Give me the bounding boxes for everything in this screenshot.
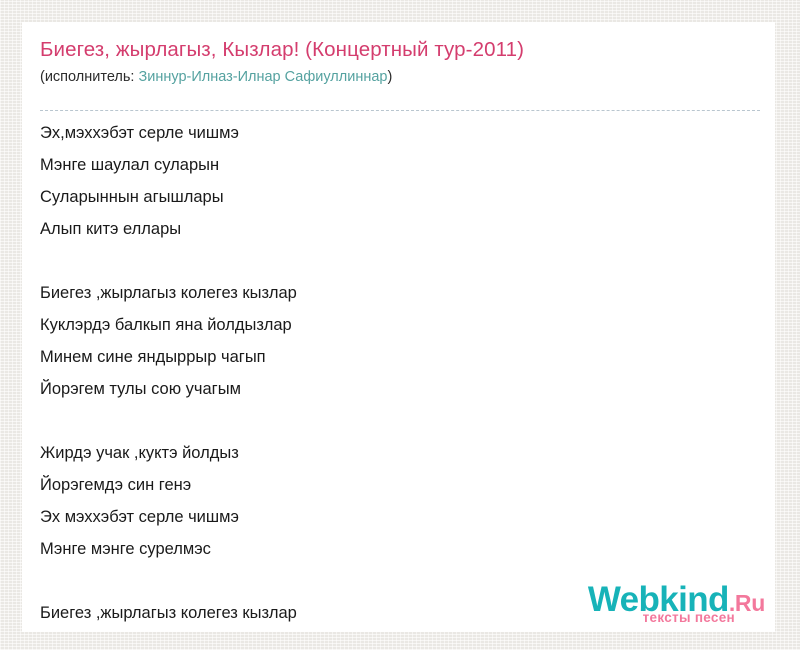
page-title: Биегез, жырлагыз, Кызлар! (Концертный ту… <box>40 37 758 63</box>
artist-suffix: ) <box>387 69 392 85</box>
lyrics-text: Эх,мэххэбэт серле чишмэМэнге шаулал сула… <box>40 117 740 632</box>
content-sheet: Биегез, жырлагыз, Кызлар! (Концертный ту… <box>22 22 775 632</box>
artist-label: (исполнитель: <box>40 69 138 85</box>
lyrics-line: Жирдэ учак ,куктэ йолдыз <box>40 437 740 469</box>
lyrics-stanza: Биегез ,жырлагыз колегез кызларКуклэрдэ … <box>40 277 740 405</box>
lyrics-line: Алып китэ еллары <box>40 213 740 245</box>
logo-tagline: тексты песен <box>588 611 735 625</box>
song-header: Биегез, жырлагыз, Кызлар! (Концертный ту… <box>40 37 758 87</box>
lyrics-line: Куклэрдэ балкып яна йолдызлар <box>40 309 740 341</box>
lyrics-line: Эх,мэххэбэт серле чишмэ <box>40 117 740 149</box>
lyrics-line: Куклэрдэ балкып яна йолдызлар <box>40 629 740 632</box>
artist-link[interactable]: Зиннур-Илназ-Илнар Сафиуллиннар <box>138 69 387 85</box>
site-logo-watermark: Webkind.Ru тексты песен <box>588 582 765 625</box>
lyrics-line: Суларыннын агышлары <box>40 181 740 213</box>
lyrics-line: Йорэгем тулы сою учагым <box>40 373 740 405</box>
lyrics-stanza: Эх,мэххэбэт серле чишмэМэнге шаулал сула… <box>40 117 740 245</box>
lyrics-line: Эх мэххэбэт серле чишмэ <box>40 501 740 533</box>
lyrics-stanza: Жирдэ учак ,куктэ йолдызЙорэгемдэ син ге… <box>40 437 740 565</box>
lyrics-line: Минем сине яндыррыр чагып <box>40 341 740 373</box>
lyrics-line: Биегез ,жырлагыз колегез кызлар <box>40 277 740 309</box>
header-divider <box>40 110 760 111</box>
lyrics-line: Мэнге мэнге сурелмэс <box>40 533 740 565</box>
lyrics-line: Йорэгемдэ син генэ <box>40 469 740 501</box>
artist-line: (исполнитель: Зиннур-Илназ-Илнар Сафиулл… <box>40 68 758 87</box>
lyrics-line: Мэнге шаулал суларын <box>40 149 740 181</box>
